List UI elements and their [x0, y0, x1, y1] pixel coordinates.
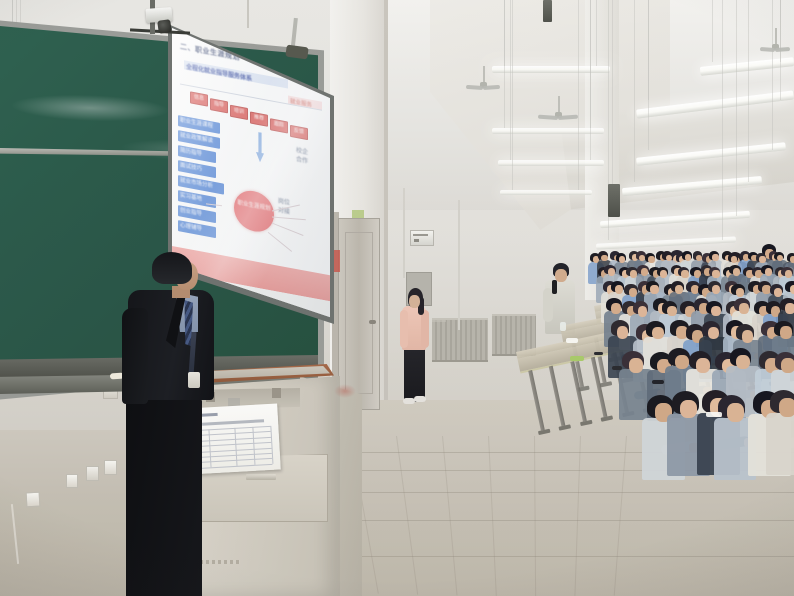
light-suspension-wire	[748, 0, 749, 182]
ceiling-fan	[760, 28, 790, 58]
student-face	[736, 355, 750, 370]
light-suspension-wire	[512, 0, 513, 190]
student-face	[781, 358, 794, 373]
student-face	[650, 285, 658, 294]
presenter-badge	[188, 372, 200, 388]
light-suspension-wire	[722, 0, 723, 240]
student-face	[608, 268, 615, 276]
light-suspension-wire	[590, 0, 591, 160]
student-face	[759, 256, 765, 263]
desk-leg	[549, 365, 566, 426]
microphone-icon	[552, 280, 557, 294]
paper-on-desk	[706, 412, 722, 417]
light-suspension-wire	[596, 0, 597, 66]
student-face	[629, 358, 643, 373]
wall-control-box[interactable]	[410, 230, 434, 246]
desk-leg	[591, 356, 608, 417]
presenter-arm	[122, 308, 148, 404]
door-handle[interactable]	[369, 320, 376, 324]
paper-row-line	[195, 431, 271, 436]
student-face	[641, 268, 648, 276]
slide-chip-blue: 心理辅导	[178, 220, 216, 238]
wall-column-edge	[384, 0, 388, 420]
student-face	[712, 254, 718, 261]
classroom-photo: 二、职业生涯规划 全程化就业指导服务体系 就业服务 信息 指导 培训 推荐 跟踪…	[0, 0, 794, 596]
podium-logo	[334, 384, 356, 398]
student-face	[785, 303, 794, 314]
light-suspension-wire	[510, 0, 511, 160]
ceiling-fan	[538, 96, 578, 126]
conduit	[403, 188, 405, 278]
student-face	[765, 268, 772, 276]
fan-blade	[775, 47, 790, 52]
podium-drawer-handle[interactable]	[246, 474, 276, 480]
student-face	[652, 327, 664, 339]
conduit	[458, 200, 460, 330]
slide-spoke	[268, 232, 292, 252]
slide-center-node: 职业生涯规划	[234, 187, 274, 234]
light-suspension-wire	[578, 0, 579, 190]
student-face	[739, 303, 749, 314]
paper-row-line	[195, 437, 271, 442]
student-face	[555, 269, 567, 282]
wall-speaker-icon	[543, 0, 552, 22]
power-outlet[interactable]	[26, 492, 41, 508]
student-face	[712, 270, 719, 278]
slide-spoke	[272, 217, 306, 221]
student-face	[619, 256, 625, 263]
desk-leg-foot	[601, 415, 614, 421]
desk-leg-foot	[559, 424, 572, 430]
slide-chip-red: 信息	[190, 91, 208, 106]
desk-leg-foot	[580, 420, 593, 426]
student-face	[742, 330, 754, 342]
control-box-label	[413, 234, 428, 236]
presenter-legs	[126, 396, 202, 596]
woman-legs	[404, 346, 425, 402]
student-face	[681, 270, 688, 278]
down-arrow-icon	[256, 132, 264, 163]
light-switch[interactable]	[66, 474, 78, 488]
conduit	[247, 0, 249, 28]
slide-chip-red: 推荐	[250, 111, 268, 126]
paper-row-line	[195, 442, 271, 447]
slide-chip-red: 跟踪	[270, 118, 288, 133]
phone-on-desk	[594, 352, 603, 355]
desk-leg-foot	[538, 429, 551, 435]
paper-title-mark	[202, 419, 264, 425]
student-face	[617, 326, 629, 338]
student-face	[696, 255, 702, 262]
fan-blade	[483, 85, 500, 90]
slide-chip-red: 培训	[230, 105, 248, 120]
student-face	[780, 326, 792, 338]
student	[770, 390, 794, 467]
slide-spoke	[272, 223, 304, 236]
fan-blade	[538, 115, 558, 120]
student-face	[785, 270, 792, 278]
podium-vent	[200, 560, 240, 564]
power-outlet[interactable]	[86, 466, 99, 481]
paper-row-line	[196, 447, 272, 452]
student-face	[727, 403, 744, 421]
light-suspension-wire	[648, 0, 649, 150]
door-notice	[334, 250, 340, 272]
student-face	[601, 255, 607, 262]
door-panel	[345, 232, 373, 394]
student-face	[675, 355, 689, 370]
paper-row-line	[196, 458, 272, 463]
student-torso	[766, 413, 794, 475]
student-face	[680, 400, 697, 418]
student-face	[790, 256, 794, 263]
student-face	[685, 254, 691, 261]
wall-speaker-icon	[608, 184, 620, 217]
student-face	[731, 256, 737, 263]
woman-face	[409, 295, 420, 308]
camera-lens-icon	[157, 19, 172, 34]
student-face	[736, 288, 744, 297]
student-face	[790, 285, 794, 294]
paper-row-line	[194, 426, 270, 431]
presenter-hair	[152, 252, 192, 284]
bottle-on-desk	[560, 322, 566, 331]
radiator-section	[432, 320, 446, 362]
slide-right-label: 校企合作	[296, 147, 308, 167]
desk-leg	[528, 370, 545, 431]
student-face	[696, 358, 710, 373]
student-face	[638, 306, 648, 317]
woman-shoe	[414, 396, 426, 402]
student-face	[711, 306, 721, 317]
student-face	[733, 268, 740, 276]
light-suspension-wire	[504, 0, 505, 128]
control-box-button[interactable]	[414, 239, 419, 242]
phone-on-desk	[652, 380, 664, 384]
student-face	[667, 306, 677, 317]
desk-leg	[570, 361, 587, 422]
paper-on-desk	[566, 338, 578, 343]
board-glare	[10, 92, 171, 124]
light-suspension-wire	[772, 0, 773, 150]
light-suspension-wire	[712, 0, 713, 62]
fan-blade	[558, 115, 578, 120]
fan-blade	[466, 85, 483, 90]
paper-row-line	[196, 453, 272, 458]
exit-sign	[352, 210, 364, 218]
slide-chip-red: 指导	[210, 98, 228, 113]
student-face	[779, 398, 794, 416]
fan-blade	[760, 47, 775, 52]
student-face	[666, 255, 672, 262]
power-outlet[interactable]	[104, 460, 117, 475]
student-face	[615, 285, 623, 294]
ceiling-light	[492, 128, 604, 134]
student-face	[611, 303, 621, 314]
phone-on-desk	[612, 366, 622, 370]
student-face	[774, 288, 782, 297]
slide-chip-red: 反馈	[290, 125, 308, 140]
light-suspension-wire	[634, 0, 635, 182]
ceiling-light	[500, 190, 592, 195]
paper-row-line	[197, 464, 273, 469]
ceiling-light	[498, 160, 604, 166]
notebook-on-desk	[570, 356, 584, 361]
student-face	[660, 270, 667, 278]
podium-hinge	[272, 388, 281, 398]
light-suspension-wire	[736, 0, 737, 216]
woman-arm	[421, 310, 429, 348]
student-face	[648, 256, 654, 263]
ceiling-fan	[466, 66, 500, 96]
woman-arm	[400, 310, 408, 348]
